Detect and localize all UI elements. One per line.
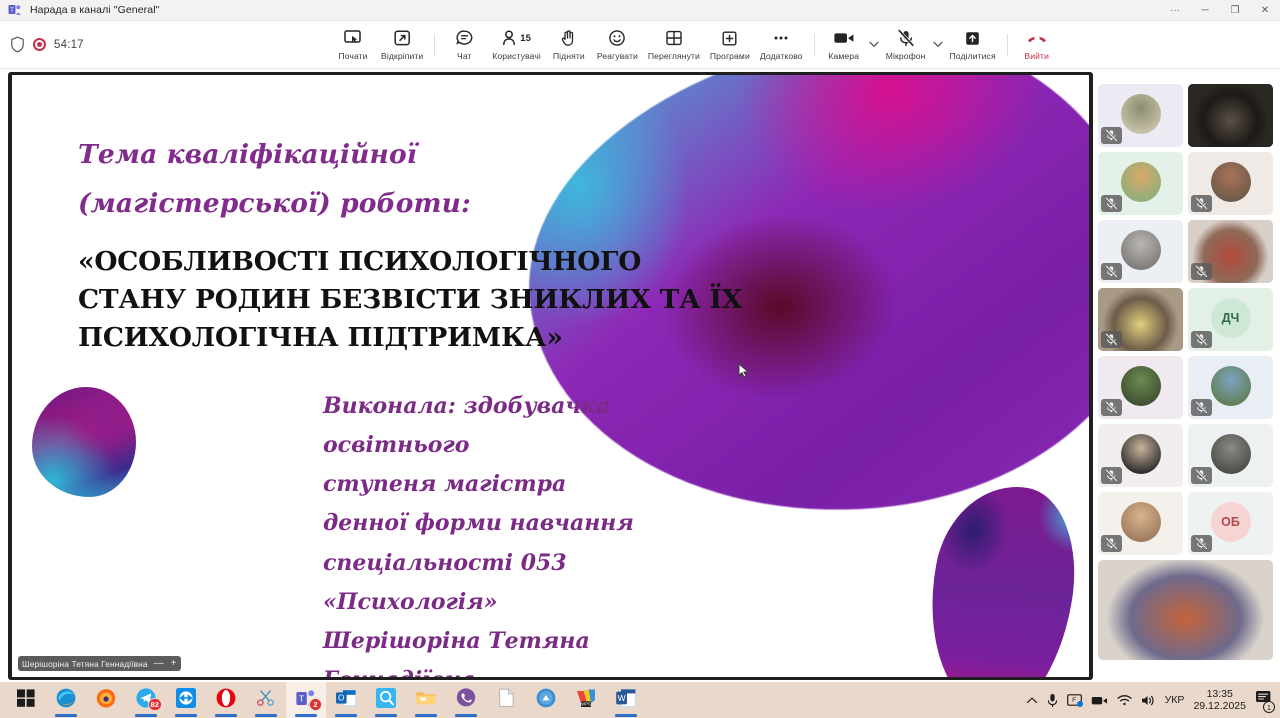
recording-indicator-icon xyxy=(33,38,46,51)
participant-tile[interactable] xyxy=(1098,356,1183,419)
view-button[interactable]: Переглянути xyxy=(643,22,705,68)
taskbar-edge-button[interactable] xyxy=(46,682,86,718)
slide-title: «ОСОБЛИВОСТІ ПСИХОЛОГІЧНОГО СТАНУ РОДИН … xyxy=(78,243,748,357)
taskbar-word-button[interactable]: W xyxy=(606,682,646,718)
system-tray: F УКР 13:35 29.12.2025 1 xyxy=(1026,688,1280,713)
taskbar-badge: 2 xyxy=(309,698,322,711)
microphone-icon[interactable] xyxy=(1047,693,1058,708)
mic-muted-icon xyxy=(1191,399,1212,416)
teams-icon: T xyxy=(8,3,22,17)
magnifier-icon xyxy=(375,687,397,714)
unpin-button[interactable]: Відкріпити xyxy=(376,22,428,68)
participant-tile[interactable] xyxy=(1098,492,1183,555)
microphone-label: Мікрофон xyxy=(886,51,926,61)
camera-icon xyxy=(833,28,855,48)
meeting-controls: Почати Відкріпити Чат 15 xyxy=(330,21,1060,69)
microphone-button[interactable]: Мікрофон xyxy=(881,22,931,68)
svg-text:F: F xyxy=(1072,697,1076,704)
more-button[interactable]: Додатково xyxy=(755,22,808,68)
running-indicator xyxy=(335,714,357,717)
running-indicator xyxy=(255,714,277,717)
running-indicator xyxy=(215,714,237,717)
toolbar-divider xyxy=(434,34,435,56)
svg-text:O: O xyxy=(338,693,344,702)
chat-button[interactable]: Чат xyxy=(441,22,487,68)
teamviewer-icon xyxy=(175,687,197,714)
share-label: Поділитися xyxy=(950,51,996,61)
raise-hand-icon xyxy=(560,28,577,48)
running-indicator xyxy=(375,714,397,717)
viber-icon xyxy=(455,687,477,714)
leave-meeting-label: Вийти xyxy=(1024,51,1049,61)
participant-tile[interactable] xyxy=(1188,220,1273,283)
ellipsis-icon xyxy=(771,28,791,48)
author-line-5: Шерішоріна Тетяна Геннадіївна xyxy=(323,622,743,677)
notification-count: 1 xyxy=(1263,701,1275,713)
slide-author-block: Виконала: здобувачка освітнього ступеня … xyxy=(323,387,743,677)
people-icon: 15 xyxy=(502,28,531,48)
opera-icon xyxy=(215,687,237,714)
mic-muted-icon xyxy=(896,28,916,48)
volume-icon[interactable] xyxy=(1141,694,1156,707)
word-icon: W xyxy=(615,687,637,714)
mouse-cursor-icon xyxy=(738,363,750,379)
mic-muted-icon xyxy=(1191,263,1212,280)
outlook-icon: O xyxy=(335,687,357,714)
chat-label: Чат xyxy=(457,51,472,61)
camera-icon[interactable] xyxy=(1091,695,1108,706)
view-label: Переглянути xyxy=(648,51,700,61)
running-indicator xyxy=(615,714,637,717)
running-indicator xyxy=(455,714,477,717)
avatar: ДЧ xyxy=(1211,298,1251,338)
taskbar-viber-button[interactable] xyxy=(446,682,486,718)
mic-muted-icon xyxy=(1101,467,1122,484)
participant-grid: ДЧОБ xyxy=(1098,84,1274,660)
window-controls: ··· ─ ❐ ✕ xyxy=(1160,0,1280,21)
participant-tile[interactable] xyxy=(1098,152,1183,215)
taskbar-blueapp-button[interactable] xyxy=(526,682,566,718)
participant-tile[interactable] xyxy=(1188,424,1273,487)
zoom-in-button[interactable]: + xyxy=(170,659,178,669)
taskbar-scissors-button[interactable] xyxy=(246,682,286,718)
author-line-4: спеціальності 053 «Психологія» xyxy=(323,544,743,622)
window-close-button[interactable]: ✕ xyxy=(1250,0,1280,21)
start-presenting-label: Почати xyxy=(338,51,367,61)
notification-icon[interactable]: 1 xyxy=(1255,690,1272,710)
window-maximize-button[interactable]: ❐ xyxy=(1220,0,1250,21)
slide-topic-label: Тема кваліфікаційної (магістерської) роб… xyxy=(78,130,648,229)
participant-tile[interactable] xyxy=(1188,152,1273,215)
avatar xyxy=(1121,94,1161,134)
taskbar-search-app-button[interactable] xyxy=(366,682,406,718)
participant-tile[interactable] xyxy=(1098,220,1183,283)
people-label: Користувачі xyxy=(492,51,541,61)
edge-icon xyxy=(55,687,77,714)
teams-meeting-window: T Нарада в каналі "General" ··· ─ ❐ ✕ 54… xyxy=(0,0,1280,718)
running-indicator xyxy=(295,714,317,717)
avatar xyxy=(1211,366,1251,406)
camera-button[interactable]: Камера xyxy=(821,22,867,68)
running-indicator xyxy=(175,714,197,717)
unpin-arrow-icon xyxy=(393,28,412,48)
mic-muted-icon xyxy=(1101,399,1122,416)
toolbar-divider-3 xyxy=(1007,34,1008,56)
participant-tile[interactable] xyxy=(1098,424,1183,487)
mic-muted-icon xyxy=(1101,535,1122,552)
mic-muted-icon xyxy=(1191,535,1212,552)
avatar xyxy=(1121,502,1161,542)
raise-hand-label: Підняти xyxy=(553,51,585,61)
window-minimize-button[interactable]: ─ xyxy=(1190,0,1220,21)
avatar xyxy=(1121,230,1161,270)
taskbar-teams-button[interactable]: T2 xyxy=(286,682,326,718)
meeting-status-group: 54:17 xyxy=(0,36,330,53)
present-screen-icon xyxy=(343,28,363,48)
participant-tile[interactable] xyxy=(1188,84,1273,147)
plus-box-icon xyxy=(721,28,738,48)
react-button[interactable]: Реагувати xyxy=(592,22,643,68)
clock-time: 13:35 xyxy=(1193,688,1246,700)
unpin-label: Відкріпити xyxy=(381,51,423,61)
document-icon xyxy=(495,687,517,714)
wps-office-icon: WPS xyxy=(575,687,597,714)
window-more-button[interactable]: ··· xyxy=(1160,0,1190,21)
presentation-slide: Тема кваліфікаційної (магістерської) роб… xyxy=(12,75,1089,677)
react-label: Реагувати xyxy=(597,51,638,61)
svg-text:W: W xyxy=(618,693,626,703)
more-label: Додатково xyxy=(760,51,803,61)
taskbar-app-list: 82T2OWPSW xyxy=(0,682,646,718)
camera-chevron-down-icon[interactable] xyxy=(867,22,881,68)
mic-muted-icon xyxy=(1191,467,1212,484)
taskbar-badge: 82 xyxy=(148,698,162,711)
toolbar-divider-2 xyxy=(814,34,815,56)
leave-meeting-button[interactable]: Вийти xyxy=(1014,22,1060,68)
running-indicator xyxy=(135,714,157,717)
running-indicator xyxy=(55,714,77,717)
taskbar-explorer-button[interactable] xyxy=(406,682,446,718)
file-explorer-icon xyxy=(415,687,437,714)
mic-muted-icon xyxy=(1101,331,1122,348)
running-indicator xyxy=(415,714,437,717)
microphone-chevron-down-icon[interactable] xyxy=(931,22,945,68)
meeting-toolbar: 54:17 Почати Відкріпити xyxy=(0,21,1280,69)
grid-view-icon xyxy=(665,28,683,48)
taskbar-document-button[interactable] xyxy=(486,682,526,718)
avatar xyxy=(1211,434,1251,474)
author-line-2: ступеня магістра xyxy=(323,465,743,504)
mic-muted-icon xyxy=(1101,195,1122,212)
share-up-icon xyxy=(964,28,981,48)
apps-button[interactable]: Програми xyxy=(705,22,755,68)
window-title: Нарада в каналі "General" xyxy=(30,4,159,16)
taskbar-firefox-button[interactable] xyxy=(86,682,126,718)
svg-text:WPS: WPS xyxy=(581,701,591,706)
people-count: 15 xyxy=(520,33,531,44)
participant-tile[interactable]: ДЧ xyxy=(1188,288,1273,351)
taskbar-start-button[interactable] xyxy=(6,682,46,718)
participant-tile[interactable] xyxy=(1098,560,1273,660)
taskbar-teamviewer-button[interactable] xyxy=(166,682,206,718)
meeting-timer: 54:17 xyxy=(54,39,84,51)
participant-rail[interactable]: ДЧОБ xyxy=(1098,84,1274,680)
camera-label: Камера xyxy=(828,51,859,61)
start-presenting-button[interactable]: Почати xyxy=(330,22,376,68)
svg-text:T: T xyxy=(299,693,305,703)
raise-hand-button[interactable]: Підняти xyxy=(546,22,592,68)
taskbar-telegram-button[interactable]: 82 xyxy=(126,682,166,718)
avatar xyxy=(1211,162,1251,202)
decorative-gradient-blob-bottom-right xyxy=(912,475,1089,677)
avatar xyxy=(1121,162,1161,202)
windows-taskbar: 82T2OWPSW F УКР 13:35 xyxy=(0,682,1280,718)
smiley-icon xyxy=(608,28,626,48)
participant-tile[interactable] xyxy=(1098,288,1183,351)
zoom-out-button[interactable]: — xyxy=(153,659,165,669)
mic-muted-icon xyxy=(1101,263,1122,280)
mic-muted-icon xyxy=(1101,127,1122,144)
author-line-1: Виконала: здобувачка освітнього xyxy=(323,387,743,465)
share-button[interactable]: Поділитися xyxy=(945,22,1001,68)
clock-date: 29.12.2025 xyxy=(1193,700,1246,712)
chat-bubble-icon xyxy=(455,28,474,48)
avatar: ОБ xyxy=(1211,502,1251,542)
snip-scissors-icon xyxy=(255,687,277,714)
firefox-icon xyxy=(95,687,117,714)
apps-label: Програми xyxy=(710,51,750,61)
wifi-icon[interactable] xyxy=(1117,694,1132,706)
taskbar-wps-button[interactable]: WPS xyxy=(566,682,606,718)
presenter-name: Шерішоріна Тетяна Геннадіївна xyxy=(22,659,148,669)
language-indicator[interactable]: УКР xyxy=(1165,694,1185,706)
avatar xyxy=(1121,434,1161,474)
screen-share-icon[interactable]: F xyxy=(1067,694,1082,707)
taskbar-outlook-button[interactable]: O xyxy=(326,682,366,718)
clock[interactable]: 13:35 29.12.2025 xyxy=(1193,688,1246,713)
shield-icon[interactable] xyxy=(10,36,25,53)
decorative-gradient-blob-small xyxy=(32,387,136,497)
taskbar-opera-button[interactable] xyxy=(206,682,246,718)
avatar xyxy=(1121,366,1161,406)
mic-muted-icon xyxy=(1191,331,1212,348)
blue-circle-app-icon xyxy=(535,687,557,714)
windows-start-icon xyxy=(16,688,36,713)
chevron-up-icon[interactable] xyxy=(1026,696,1038,705)
participant-tile[interactable]: ОБ xyxy=(1188,492,1273,555)
presenter-name-chip: Шерішоріна Тетяна Геннадіївна — + xyxy=(18,656,181,671)
svg-text:T: T xyxy=(10,8,14,14)
people-button[interactable]: 15 Користувачі xyxy=(487,22,546,68)
participant-tile[interactable] xyxy=(1188,356,1273,419)
window-title-bar: T Нарада в каналі "General" ··· ─ ❐ ✕ xyxy=(0,0,1280,21)
shared-content-stage[interactable]: Тема кваліфікаційної (магістерської) роб… xyxy=(8,72,1093,680)
participant-video-feed xyxy=(1098,560,1273,660)
author-line-3: денної форми навчання xyxy=(323,504,743,543)
participant-video-feed xyxy=(1188,84,1273,147)
hangup-icon xyxy=(1026,28,1048,48)
participant-tile[interactable] xyxy=(1098,84,1183,147)
mic-muted-icon xyxy=(1191,195,1212,212)
